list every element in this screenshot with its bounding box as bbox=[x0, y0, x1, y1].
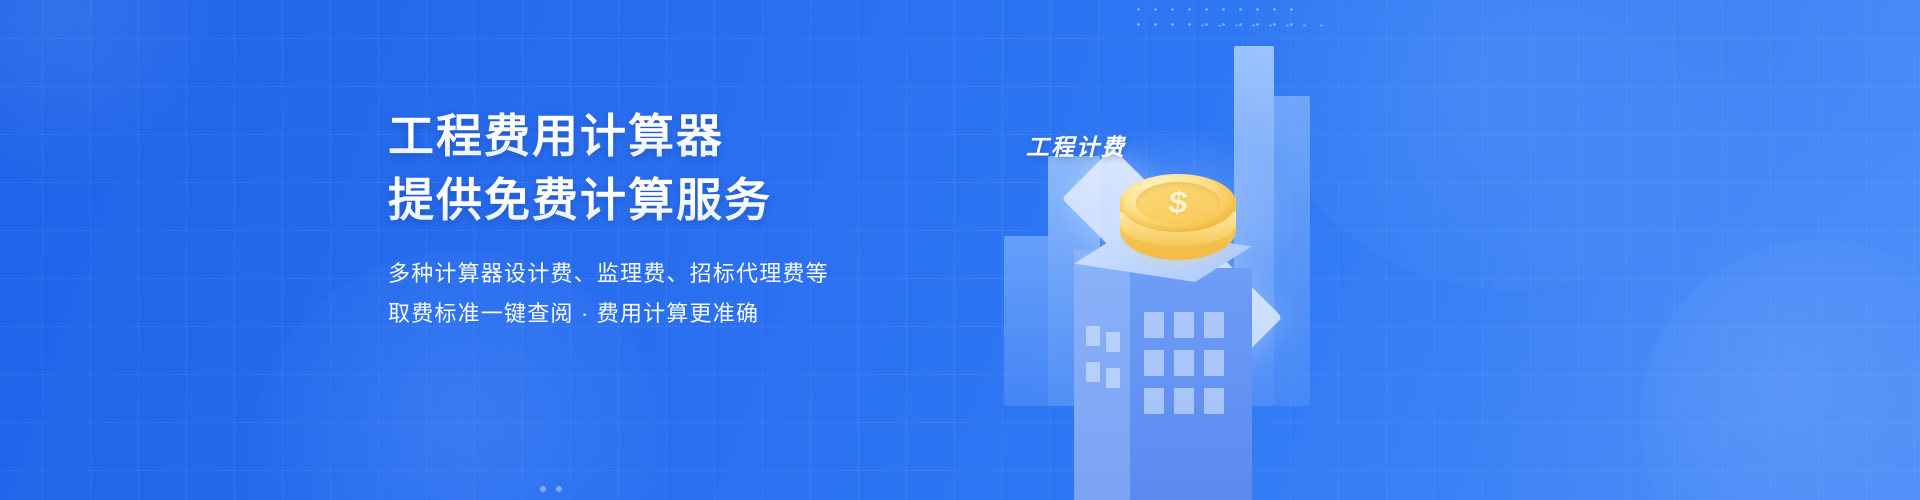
illustration-label: 工程计费 bbox=[1026, 128, 1126, 162]
banner-illustration: $ 工程计费 bbox=[988, 0, 1454, 500]
hero-banner: 工程费用计算器 提供免费计算服务 多种计算器设计费、监理费、招标代理费等 取费标… bbox=[0, 0, 1920, 500]
carousel-dot-1[interactable] bbox=[540, 486, 546, 492]
dollar-sign-icon: $ bbox=[1152, 186, 1204, 221]
illustration-coin: $ bbox=[1110, 168, 1246, 276]
illustration-window bbox=[1144, 388, 1164, 414]
illustration-window bbox=[1174, 350, 1194, 376]
banner-headline-line-2: 提供免费计算服务 bbox=[388, 168, 829, 232]
illustration-window bbox=[1086, 362, 1100, 382]
illustration-window bbox=[1144, 350, 1164, 376]
illustration-window bbox=[1174, 388, 1194, 414]
illustration-building-front bbox=[1130, 268, 1252, 500]
illustration-window bbox=[1106, 332, 1120, 352]
illustration-window bbox=[1174, 312, 1194, 338]
banner-subtitle-line-2: 取费标准一键查阅 · 费用计算更准确 bbox=[388, 294, 829, 334]
carousel-dots[interactable] bbox=[540, 486, 562, 492]
illustration-window bbox=[1204, 312, 1224, 338]
illustration-window bbox=[1086, 326, 1100, 346]
carousel-dot-2[interactable] bbox=[556, 486, 562, 492]
illustration-building-side bbox=[1074, 250, 1132, 500]
banner-copy: 工程费用计算器 提供免费计算服务 多种计算器设计费、监理费、招标代理费等 取费标… bbox=[388, 104, 829, 334]
illustration-window bbox=[1204, 388, 1224, 414]
banner-subtitle-line-1: 多种计算器设计费、监理费、招标代理费等 bbox=[388, 254, 829, 294]
illustration-window bbox=[1106, 368, 1120, 388]
banner-headline-line-1: 工程费用计算器 bbox=[388, 104, 829, 168]
illustration-bar-right-small bbox=[1274, 96, 1310, 406]
illustration-window bbox=[1204, 350, 1224, 376]
illustration-window bbox=[1144, 312, 1164, 338]
illustration-bar-left-small bbox=[1004, 236, 1048, 406]
